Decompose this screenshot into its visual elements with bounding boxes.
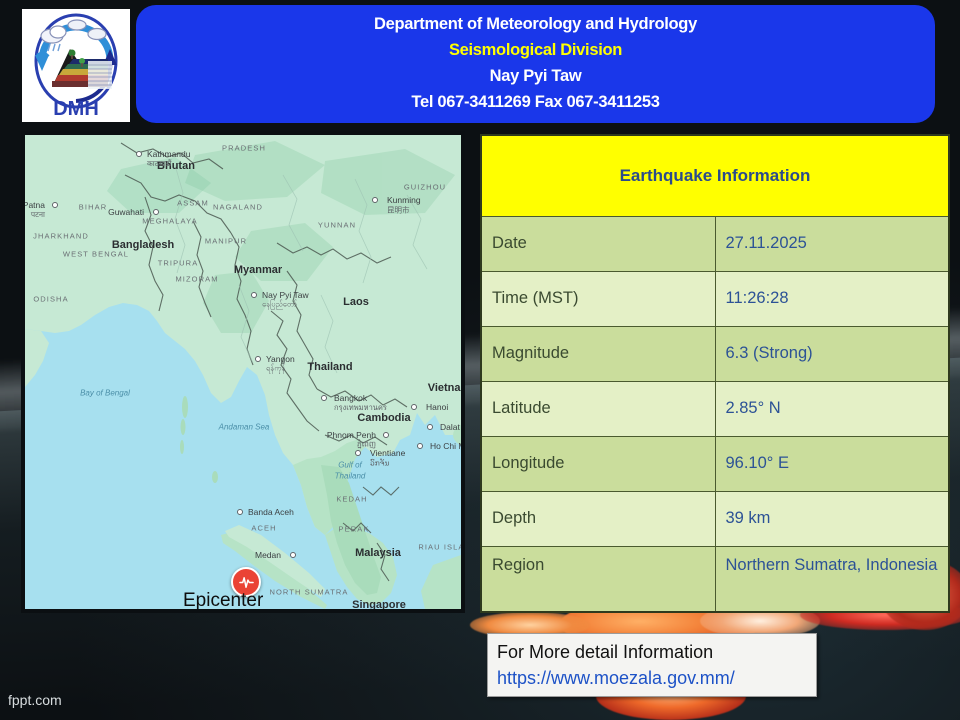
row-label: Magnitude <box>481 326 715 381</box>
epicenter-label: Epicenter <box>183 590 263 609</box>
row-value: 6.3 (Strong) <box>715 326 949 381</box>
more-info-box[interactable]: For More detail Information https://www.… <box>487 633 817 697</box>
row-value: 27.11.2025 <box>715 217 949 272</box>
map-city-dot <box>372 197 378 203</box>
fppt-watermark: fppt.com <box>8 692 62 708</box>
table-row: Date27.11.2025 <box>481 217 949 272</box>
row-value: 2.85° N <box>715 381 949 436</box>
table-row: Magnitude6.3 (Strong) <box>481 326 949 381</box>
header-line-department: Department of Meteorology and Hydrology <box>374 13 697 37</box>
dmh-logo: DMH <box>22 9 130 122</box>
header-line-contact: Tel 067-3411269 Fax 067-3411253 <box>411 91 659 115</box>
table-title: Earthquake Information <box>481 135 949 217</box>
earthquake-info-table: Earthquake Information Date27.11.2025Tim… <box>480 134 950 613</box>
row-value: 96.10° E <box>715 436 949 491</box>
map-city-dot <box>383 432 389 438</box>
map-city-dot <box>321 395 327 401</box>
row-label: Longitude <box>481 436 715 491</box>
seismograph-icon <box>239 575 254 590</box>
row-value: 11:26:28 <box>715 271 949 326</box>
header-line-city: Nay Pyi Taw <box>490 65 582 89</box>
header-line-division: Seismological Division <box>449 39 622 63</box>
water-cycle-icon: DMH <box>22 9 130 122</box>
row-label: Latitude <box>481 381 715 436</box>
table-row: Time (MST)11:26:28 <box>481 271 949 326</box>
map-geometry <box>25 135 461 609</box>
table-row: Latitude2.85° N <box>481 381 949 436</box>
map-city-dot <box>52 202 58 208</box>
map-city-dot <box>417 443 423 449</box>
map-city-dot <box>237 509 243 515</box>
row-value: 39 km <box>715 491 949 546</box>
row-label: Depth <box>481 491 715 546</box>
map-city-dot <box>251 292 257 298</box>
map-canvas[interactable]: BhutanBangladeshMyanmarLaosThailandVietn… <box>25 135 461 609</box>
slide-root: DMH Department of Meteorology and Hydrol… <box>0 0 960 720</box>
table-row: RegionNorthern Sumatra, Indonesia <box>481 546 949 612</box>
table-header-row: Earthquake Information <box>481 135 949 217</box>
map-city-dot <box>136 151 142 157</box>
row-label: Region <box>481 546 715 612</box>
map-city-dot <box>411 404 417 410</box>
more-info-text: For More detail Information <box>497 639 807 665</box>
moezala-link[interactable]: https://www.moezala.gov.mm/ <box>497 665 807 691</box>
map-panel[interactable]: BhutanBangladeshMyanmarLaosThailandVietn… <box>21 131 465 613</box>
map-city-dot <box>255 356 261 362</box>
map-city-dot <box>290 552 296 558</box>
row-label: Date <box>481 217 715 272</box>
header-banner: Department of Meteorology and Hydrology … <box>136 5 935 123</box>
table-row: Depth39 km <box>481 491 949 546</box>
table-row: Longitude96.10° E <box>481 436 949 491</box>
logo-text: DMH <box>53 98 99 120</box>
map-city-dot <box>355 450 361 456</box>
map-city-dot <box>427 424 433 430</box>
row-value: Northern Sumatra, Indonesia <box>715 546 949 612</box>
map-city-dot <box>153 209 159 215</box>
row-label: Time (MST) <box>481 271 715 326</box>
